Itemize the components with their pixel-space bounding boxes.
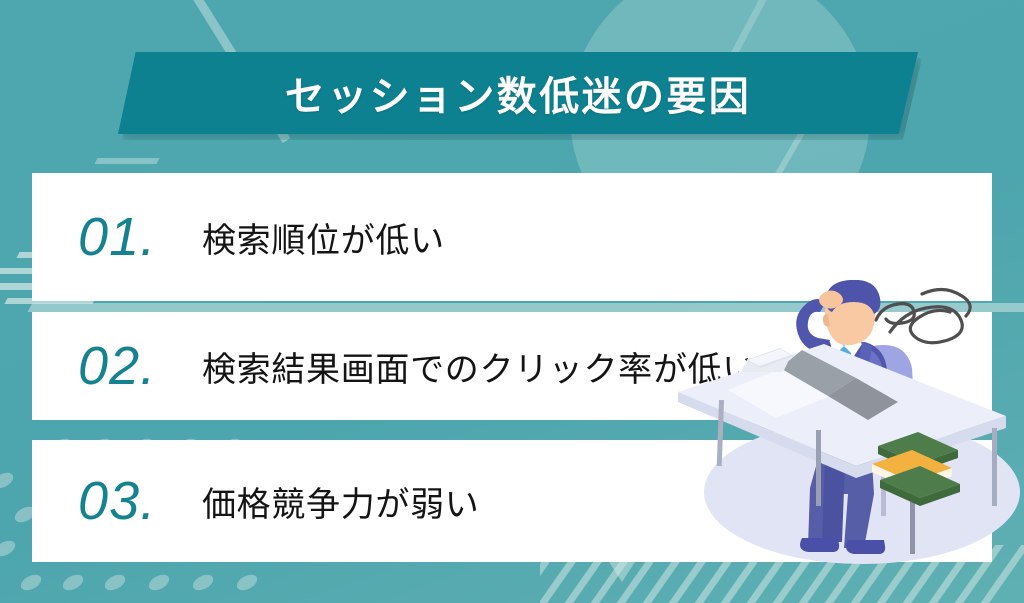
item-number: 03. [78, 470, 198, 532]
item-label: 価格競争力が弱い [202, 477, 479, 526]
dot-decor [0, 538, 18, 560]
item-label: 検索結果画面でのクリック率が低い [202, 342, 757, 391]
title-banner: セッション数低迷の要因 [118, 52, 918, 134]
page-title: セッション数低迷の要因 [118, 52, 918, 134]
shoe-right [846, 540, 885, 554]
tick-line-decor-top [94, 158, 159, 164]
item-number: 02. [78, 335, 198, 397]
slide-root: セッション数低迷の要因 01. 検索順位が低い 02. 検索結果画面でのクリック… [0, 0, 1024, 603]
frustration-scribble-icon [876, 289, 970, 342]
dot-decor [234, 572, 260, 594]
item-number-separator: . [140, 336, 156, 396]
item-number-separator: . [140, 207, 156, 267]
dot-decor [190, 572, 216, 594]
item-number-value: 02 [78, 336, 140, 396]
item-number: 01. [78, 206, 198, 268]
shoe-left [800, 538, 839, 552]
item-number-separator: . [140, 471, 156, 531]
dot-decor [0, 470, 16, 492]
desk-leg-4 [992, 428, 997, 506]
dot-decor [0, 572, 2, 594]
dot-decor [60, 572, 86, 594]
frustrated-businessman-illustration [676, 280, 1024, 570]
item-number-value: 03 [78, 471, 140, 531]
desk-leg-2 [816, 430, 821, 506]
item-number-value: 01 [78, 207, 140, 267]
dot-decor [146, 572, 172, 594]
dot-decor [18, 572, 44, 594]
dot-decor [102, 572, 128, 594]
item-label: 検索順位が低い [202, 213, 445, 262]
